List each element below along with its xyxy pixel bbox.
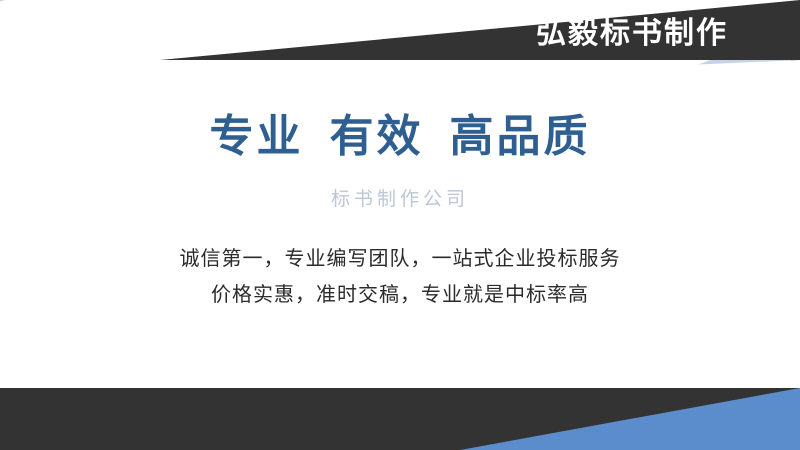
header-bar: 弘毅标书制作: [0, 0, 800, 60]
headline-word-2: 有效: [330, 112, 424, 161]
poster-content: 专业有效高品质 标书制作公司 诚信第一，专业编写团队，一站式企业投标服务 价格实…: [0, 60, 800, 390]
headline-word-3: 高品质: [450, 112, 591, 161]
main-headline: 专业有效高品质: [210, 100, 591, 164]
tagline-line-2: 价格实惠，准时交稿，专业就是中标率高: [211, 277, 589, 313]
promo-poster: 弘毅标书制作 专业有效高品质 标书制作公司 诚信第一，专业编写团队，一站式企业投…: [0, 0, 800, 450]
subtitle-text: 标书制作公司: [331, 184, 469, 211]
company-name-title: 弘毅标书制作: [536, 8, 800, 52]
tagline-line-1: 诚信第一，专业编写团队，一站式企业投标服务: [180, 241, 621, 277]
headline-word-1: 专业: [210, 112, 304, 161]
bottom-dark-band: [0, 388, 800, 450]
